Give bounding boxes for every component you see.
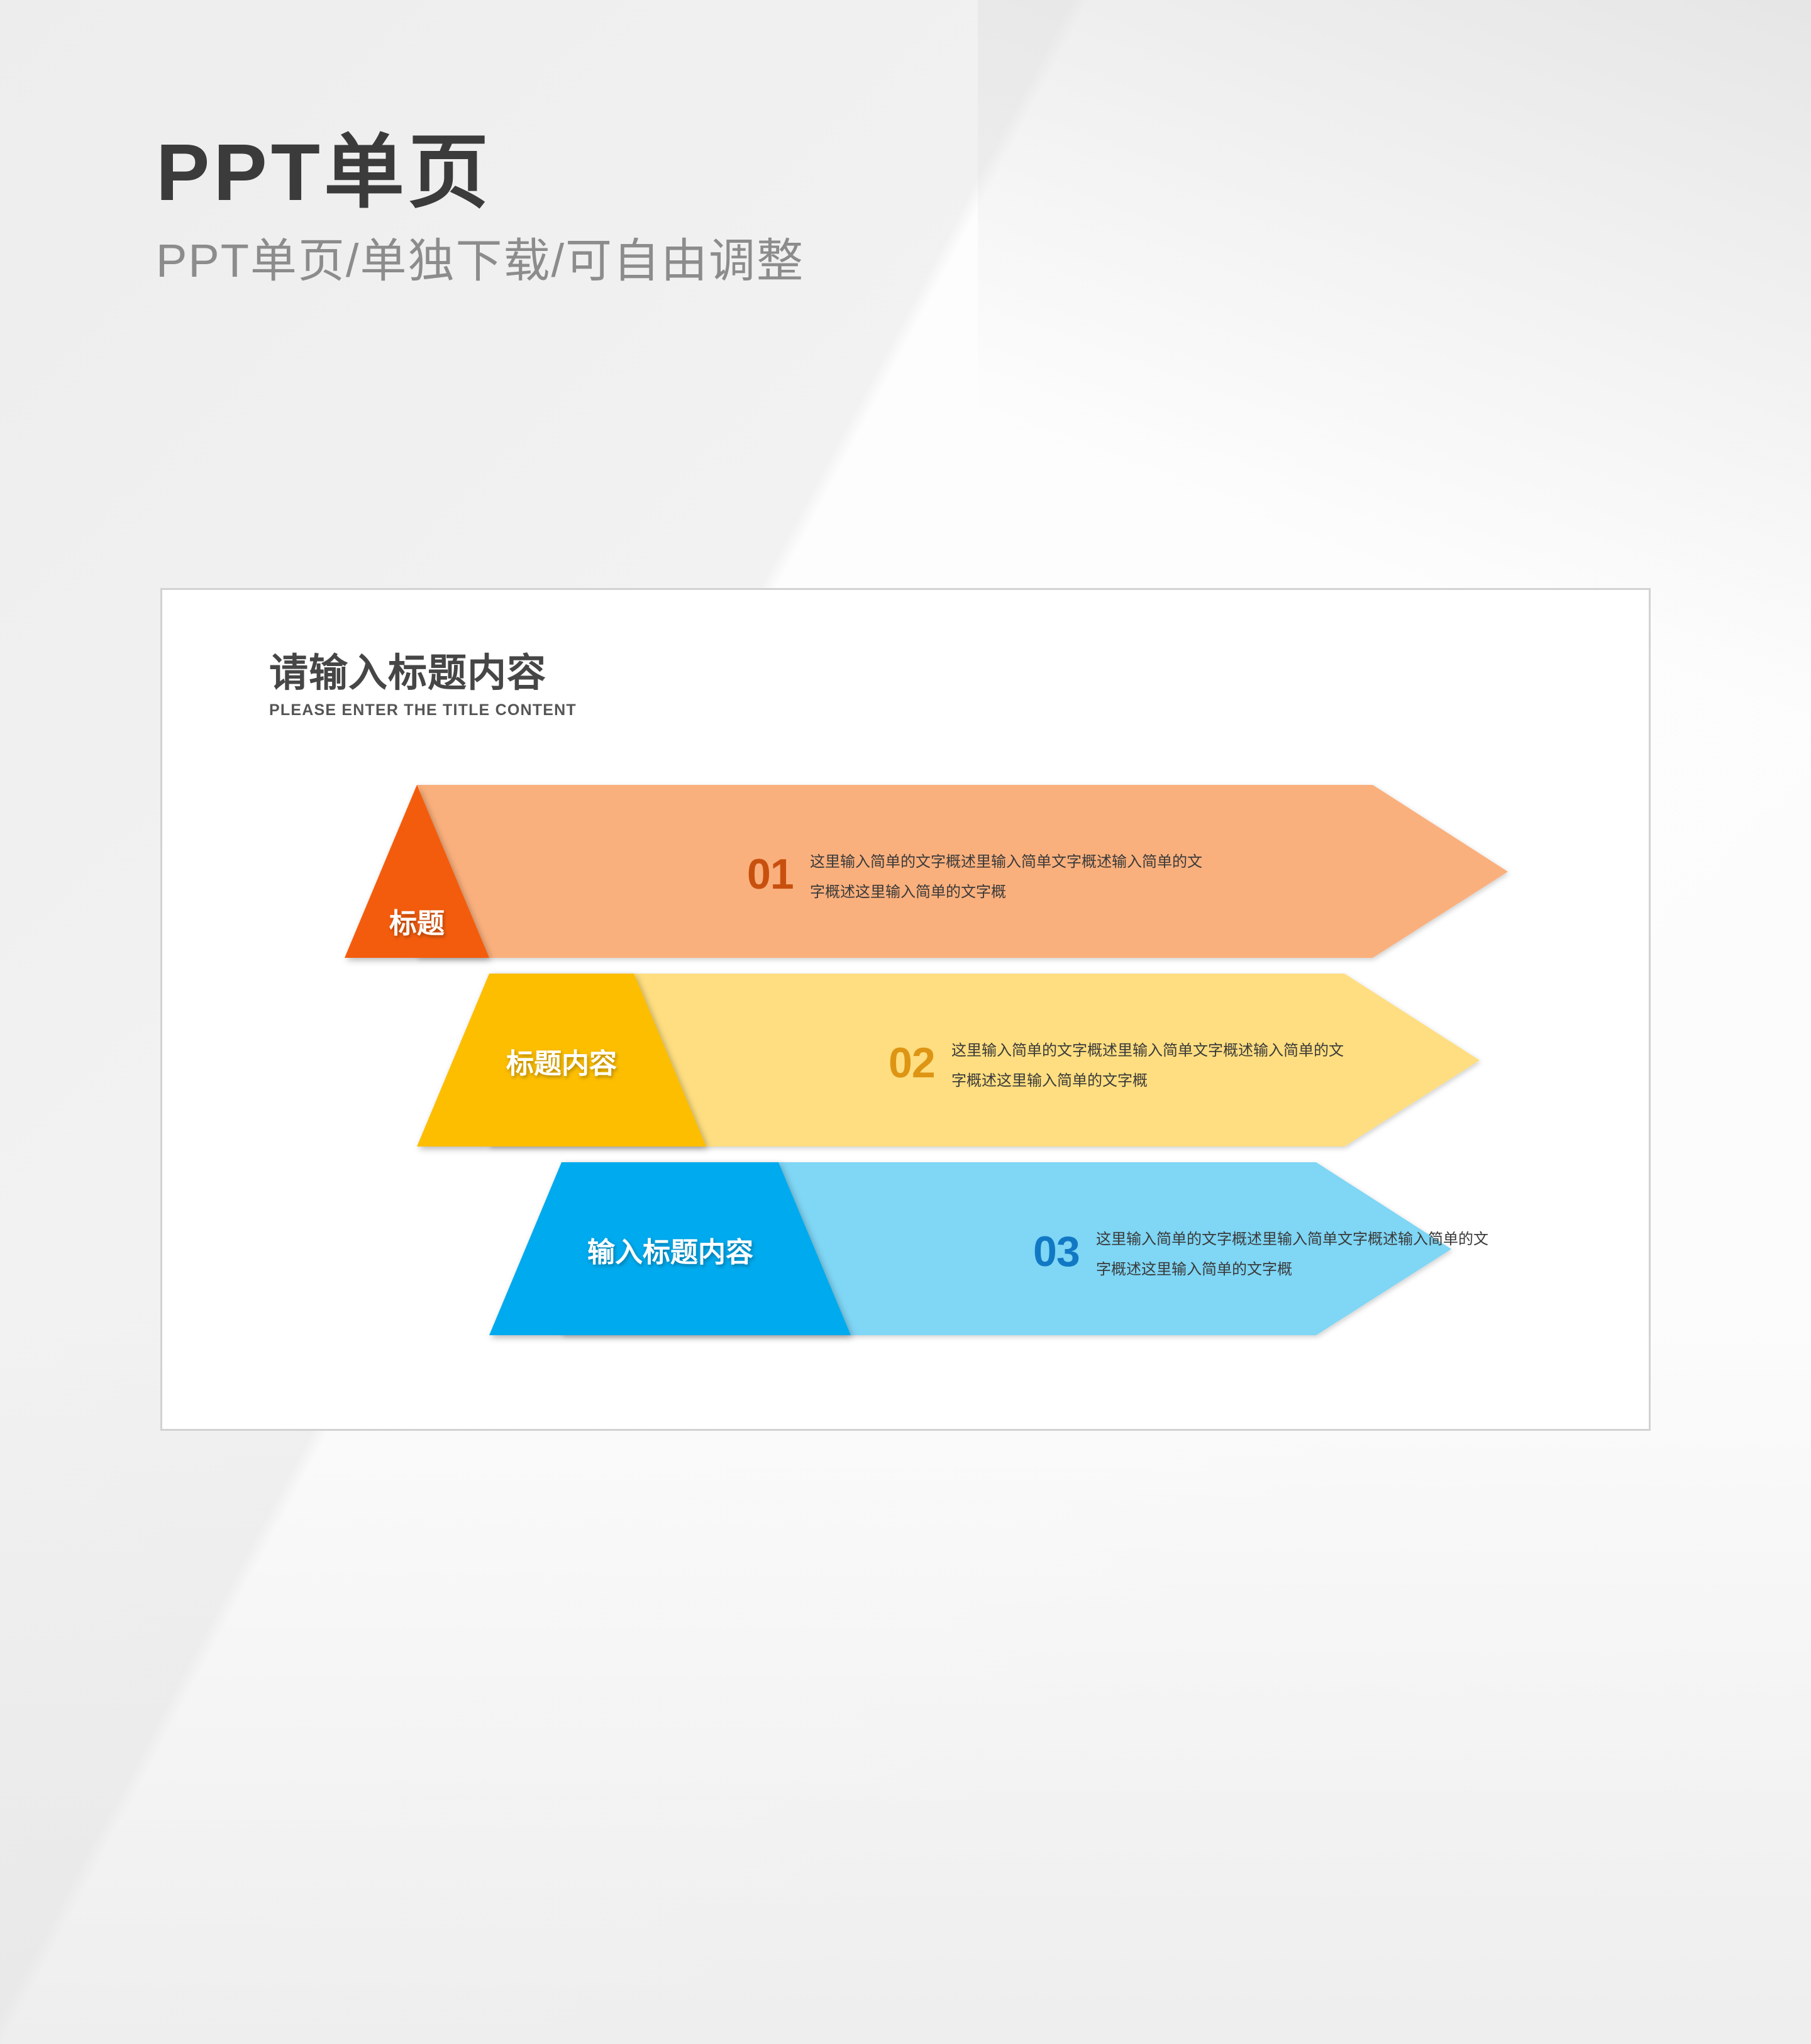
row-1-number: 01 [747, 850, 794, 898]
row-1-body-line-2: 字概述这里输入简单的文字概 [810, 884, 1006, 901]
row-2-tier-label: 标题内容 [506, 1048, 617, 1079]
slide-card[interactable]: 请输入标题内容 PLEASE ENTER THE TITLE CONTENT [160, 588, 1651, 1431]
row-2-number: 02 [889, 1039, 935, 1087]
page-title: PPT单页 [156, 129, 804, 218]
row-1-body-line-1: 这里输入简单的文字概述里输入简单文字概述输入简单的文 [810, 853, 1202, 870]
row-3-body-line-2: 字概述这里输入简单的文字概 [1096, 1261, 1292, 1278]
diagram-row-1[interactable]: 标题 01 这里输入简单的文字概述里输入简单文字概述输入简单的文 字概述这里输入… [345, 785, 1508, 958]
page-subtitle: PPT单页/单独下载/可自由调整 [156, 234, 804, 287]
slide-title: 请输入标题内容 [269, 653, 577, 694]
row-2-body-line-2: 字概述这里输入简单的文字概 [951, 1072, 1148, 1089]
diagram-row-2[interactable]: 标题内容 02 这里输入简单的文字概述里输入简单文字概述输入简单的文 字概述这里… [417, 974, 1480, 1147]
slide-subtitle: PLEASE ENTER THE TITLE CONTENT [269, 701, 577, 719]
row-1-banner [417, 785, 1508, 958]
row-3-body-line-1: 这里输入简单的文字概述里输入简单文字概述输入简单的文 [1096, 1231, 1488, 1248]
row-2-body-line-1: 这里输入简单的文字概述里输入简单文字概述输入简单的文 [951, 1042, 1344, 1059]
diagram-row-3[interactable]: 输入标题内容 03 这里输入简单的文字概述里输入简单文字概述输入简单的文 字概述… [489, 1162, 1488, 1335]
pyramid-arrow-diagram: 标题 01 这里输入简单的文字概述里输入简单文字概述输入简单的文 字概述这里输入… [162, 779, 1653, 1414]
row-3-number: 03 [1033, 1228, 1080, 1275]
header: PPT单页 PPT单页/单独下载/可自由调整 [156, 129, 804, 287]
row-1-tier-label: 标题 [389, 908, 445, 939]
slide-heading: 请输入标题内容 PLEASE ENTER THE TITLE CONTENT [269, 653, 577, 719]
row-3-tier-label: 输入标题内容 [587, 1237, 753, 1268]
